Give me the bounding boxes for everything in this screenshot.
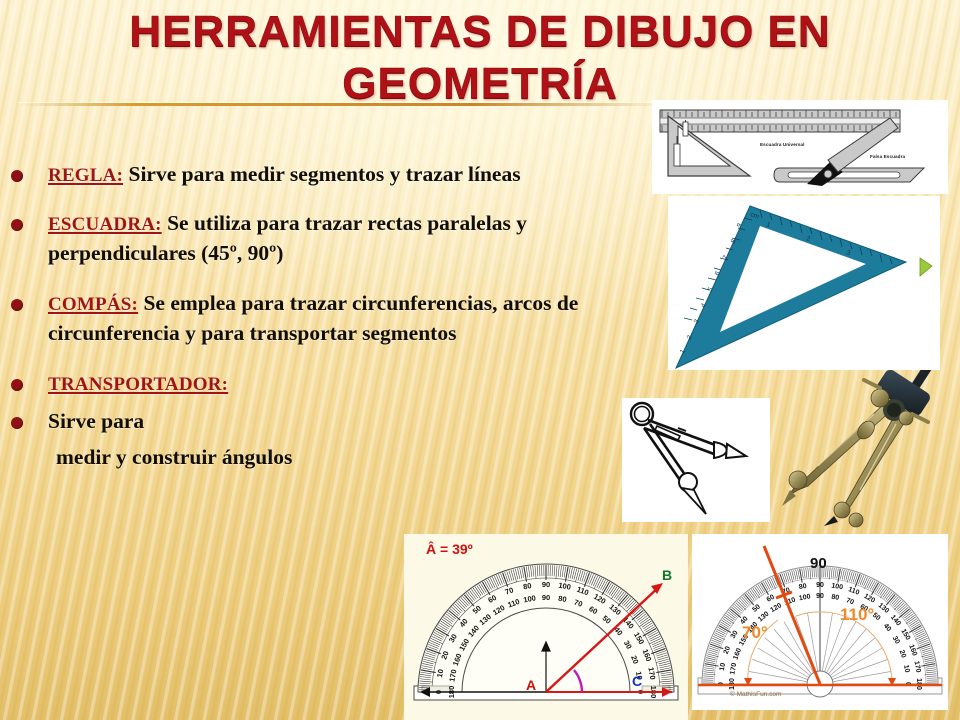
- set-square-svg: 1 2 3 cm 9 8 7 6 5 4 3: [668, 196, 940, 370]
- compass-line-svg: [622, 398, 770, 522]
- label-70-degrees: 70°: [742, 623, 768, 642]
- ruler-squares-svg: Escuadra Universal Falsa Escuadra: [652, 100, 948, 194]
- protractor-70-110-image: 0180101702016030150401405013060120701108…: [692, 534, 948, 710]
- protractor-angle-39-image: 0180101702016030150401405013060120701108…: [404, 534, 688, 720]
- svg-text:80: 80: [522, 581, 532, 591]
- spacer-1: [0, 192, 620, 209]
- svg-text:10: 10: [435, 668, 445, 678]
- svg-text:90: 90: [542, 593, 550, 602]
- caption-escuadra-universal: Escuadra Universal: [760, 142, 804, 147]
- bullet-item-escuadra: ESCUADRA: Se utiliza para trazar rectas …: [0, 209, 620, 267]
- round-bullet-icon: [11, 170, 23, 182]
- protractor2-svg: 0180101702016030150401405013060120701108…: [692, 534, 948, 710]
- watermark-mathisfun: © MathIsFun.com: [730, 690, 781, 698]
- bullet-body-regla: Sirve para medir segmentos y trazar líne…: [123, 162, 521, 186]
- bullet-text-medir-angulos: medir y construir ángulos: [56, 443, 620, 471]
- bullet-item-sirve-para: Sirve para: [0, 407, 620, 435]
- keyword-compas: COMPÁS:: [48, 294, 138, 315]
- spacer-2: [0, 269, 620, 289]
- long-ruler: [660, 110, 900, 132]
- keyword-escuadra: ESCUADRA:: [48, 214, 162, 235]
- svg-text:80: 80: [798, 583, 807, 591]
- keyword-regla: REGLA:: [48, 165, 123, 186]
- bullet-item-regla: REGLA: Sirve para medir segmentos y traz…: [0, 160, 620, 190]
- svg-text:10: 10: [719, 662, 727, 671]
- round-bullet-icon: [11, 299, 23, 311]
- round-bullet-icon: [11, 379, 23, 391]
- bullet-text-compas: COMPÁS: Se emplea para trazar circunfere…: [48, 289, 620, 347]
- protractor1-svg: 0180101702016030150401405013060120701108…: [404, 534, 688, 720]
- ruler-and-squares-image: Escuadra Universal Falsa Escuadra: [652, 100, 948, 194]
- keyword-transportador: TRANSPORTADOR:: [48, 374, 228, 395]
- label-90: 90: [810, 555, 827, 572]
- bullet-list: REGLA: Sirve para medir segmentos y traz…: [0, 160, 620, 473]
- page-title: HERRAMIENTAS DE DIBUJO EN GEOMETRÍA: [0, 6, 960, 110]
- svg-text:10: 10: [902, 664, 910, 673]
- bullet-text-escuadra: ESCUADRA: Se utiliza para trazar rectas …: [48, 209, 620, 267]
- brass-compass-photo-image: [768, 370, 960, 528]
- svg-text:90: 90: [542, 580, 550, 589]
- point-label-b: B: [662, 567, 672, 583]
- svg-text:80: 80: [831, 594, 840, 602]
- svg-text:80: 80: [558, 594, 568, 604]
- round-bullet-icon: [11, 417, 23, 429]
- point-label-c: C: [632, 673, 642, 689]
- label-110-degrees: 110°: [840, 605, 874, 624]
- blue-set-square-image: 1 2 3 cm 9 8 7 6 5 4 3: [668, 196, 940, 370]
- spacer-3: [0, 349, 620, 369]
- caption-falsa-escuadra: Falsa Escuadra: [870, 154, 905, 159]
- bullet-item-transportador: TRANSPORTADOR:: [0, 369, 620, 399]
- bullet-text-transportador: TRANSPORTADOR:: [48, 369, 620, 399]
- bullet-item-medir-angulos: medir y construir ángulos: [0, 443, 620, 471]
- angle-label-39: Â = 39º: [426, 540, 473, 557]
- slide-canvas: HERRAMIENTAS DE DIBUJO EN GEOMETRÍA HERR…: [0, 0, 960, 720]
- compass-photo-svg: [768, 370, 960, 528]
- bullet-text-sirve-para: Sirve para: [48, 407, 620, 435]
- point-label-a: A: [526, 677, 536, 693]
- bullet-text-regla: REGLA: Sirve para medir segmentos y traz…: [48, 160, 620, 190]
- round-bullet-icon: [11, 219, 23, 231]
- bullet-item-compas: COMPÁS: Se emplea para trazar circunfere…: [0, 289, 620, 347]
- compass-line-drawing-image: [622, 398, 770, 522]
